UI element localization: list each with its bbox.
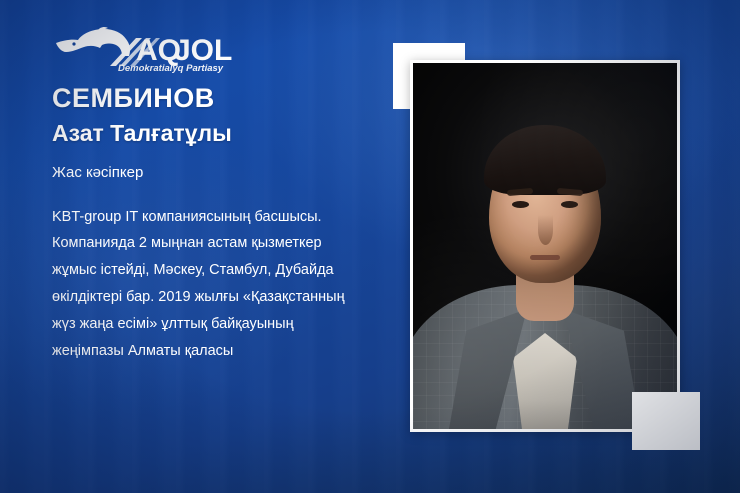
horse-head-icon [56, 27, 130, 56]
logo-svg: AQ JOL Demokratialyq Partiasy [52, 26, 262, 74]
aq-jol-logo: AQ JOL Demokratialyq Partiasy [52, 26, 262, 74]
person-biography: KBT-group IT компаниясының басшысы. Комп… [52, 204, 352, 365]
person-surname: СЕМБИНОВ [52, 84, 352, 112]
portrait-photo-frame [410, 60, 680, 432]
person-given-name: Азат Талғатұлы [52, 121, 352, 146]
eye-left [512, 201, 529, 208]
person-info-block: СЕМБИНОВ Азат Талғатұлы Жас кәсіпкер KBT… [52, 84, 352, 365]
eye-right [561, 201, 578, 208]
decor-square-bottom [632, 392, 700, 450]
portrait-photo [413, 63, 677, 429]
mouth [530, 255, 560, 260]
presentation-slide: AQ JOL Demokratialyq Partiasy СЕМБИНОВ А… [0, 0, 740, 493]
person-role: Жас кәсіпкер [52, 164, 352, 182]
nose [538, 215, 553, 245]
logo-tagline: Demokratialyq Partiasy [118, 63, 224, 74]
